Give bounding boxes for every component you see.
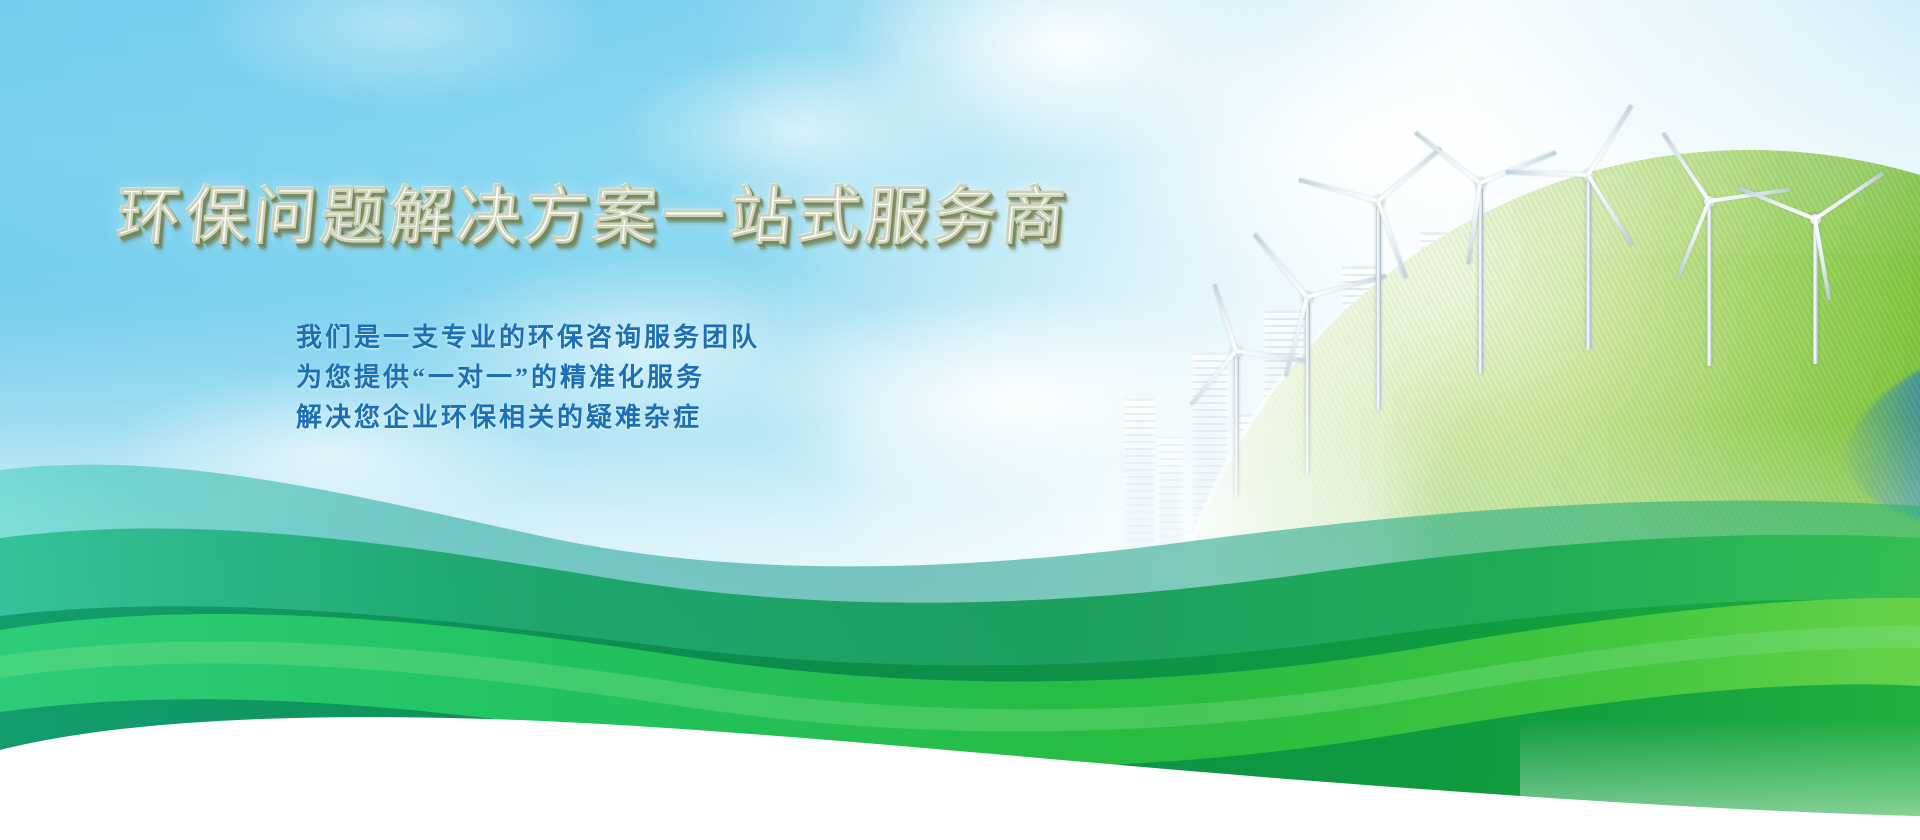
green-wave-ribbon — [0, 420, 1920, 840]
subtitle-line-3: 解决您企业环保相关的疑难杂症 — [296, 398, 760, 438]
eco-service-banner: 环保问题解决方案一站式服务商 我们是一支专业的环保咨询服务团队 为您提供“一对一… — [0, 0, 1920, 840]
wind-turbine — [1772, 214, 1858, 364]
turbine-mast — [1478, 188, 1483, 374]
subtitle-line-1: 我们是一支专业的环保咨询服务团队 — [296, 318, 760, 358]
turbine-blade — [1676, 200, 1710, 278]
wind-turbine — [1540, 170, 1636, 350]
wind-turbine — [1432, 178, 1528, 374]
turbine-blade — [1376, 200, 1408, 278]
wind-turbine — [1664, 196, 1754, 366]
subtitle-block: 我们是一支专业的环保咨询服务团队 为您提供“一对一”的精准化服务 解决您企业环保… — [296, 318, 760, 438]
subtitle-line-2: 为您提供“一对一”的精准化服务 — [296, 358, 760, 398]
page-title: 环保问题解决方案一站式服务商 — [114, 166, 1074, 257]
turbine-mast — [1707, 206, 1712, 366]
turbine-mast — [1586, 180, 1591, 350]
turbine-blade — [1586, 174, 1633, 246]
